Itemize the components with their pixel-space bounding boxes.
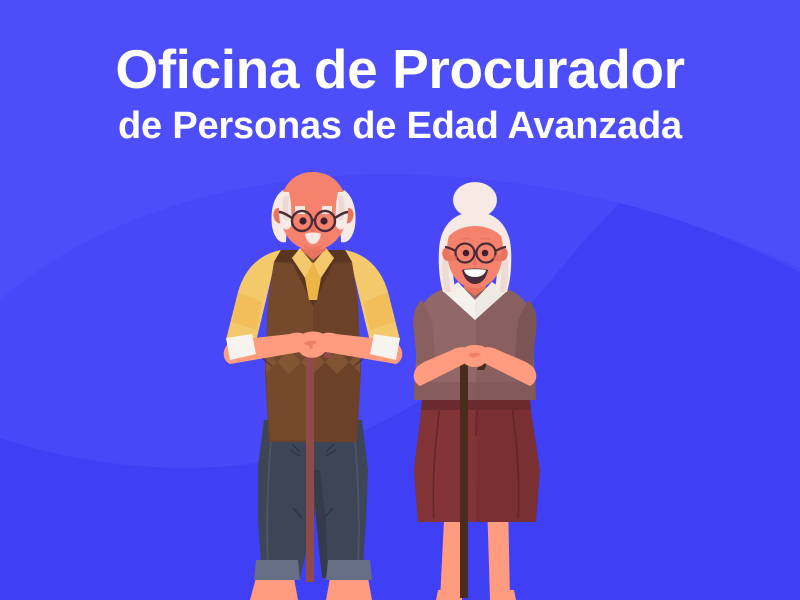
woman-eye-right xyxy=(482,250,489,257)
man-jeans-cuff-right xyxy=(326,560,372,580)
man-jeans-cuff-left xyxy=(254,560,300,580)
figure-elderly-man xyxy=(224,172,403,600)
elderly-couple-illustration xyxy=(0,0,800,600)
man-head xyxy=(271,172,355,251)
woman-head xyxy=(439,182,512,292)
poster-canvas: Oficina de Procurador de Personas de Eda… xyxy=(0,0,800,600)
woman-eye-left xyxy=(463,250,470,257)
man-eye-left xyxy=(299,217,306,224)
man-eye-right xyxy=(320,217,327,224)
woman-skirt xyxy=(414,400,540,522)
figure-elderly-woman xyxy=(413,182,540,600)
